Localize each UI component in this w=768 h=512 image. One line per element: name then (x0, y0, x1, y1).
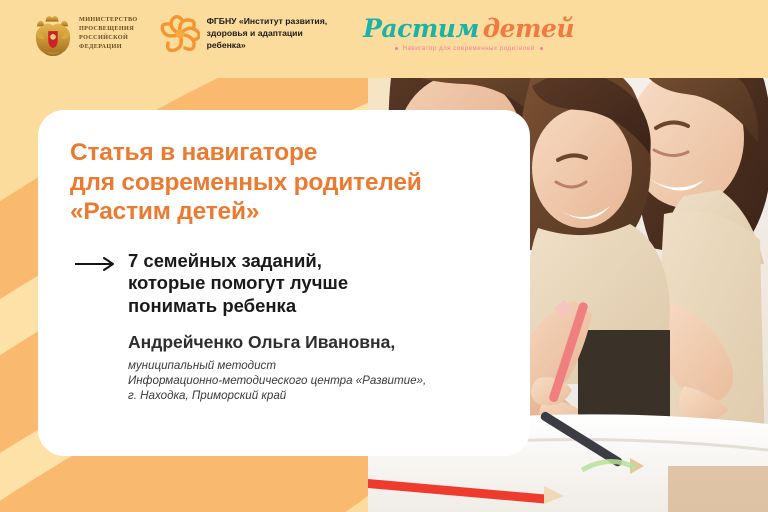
brand-word-detey: детей (483, 14, 574, 43)
brand-wordmark: Растимдетей (363, 16, 574, 42)
russian-coat-of-arms-icon (34, 12, 72, 56)
brand-tagline-row: Навигатор для современных родителей (363, 45, 574, 52)
article-subject-title: 7 семейных заданий, которые помогут лучш… (118, 250, 348, 318)
institute-label: ФГБНУ «Институт развития, здоровья и ада… (207, 16, 328, 51)
institute-logo-block: ФГБНУ «Институт развития, здоровья и ада… (160, 14, 328, 54)
page-title: Статья в навигаторе для современных роди… (70, 138, 500, 227)
author-name: Андрейченко Ольга Ивановна, (128, 332, 500, 353)
rastim-detey-brand: Растимдетей Навигатор для современных ро… (363, 16, 574, 52)
author-block: Андрейченко Ольга Ивановна, муниципальны… (70, 332, 500, 404)
subject-row: 7 семейных заданий, которые помогут лучш… (70, 250, 500, 318)
poster-root: Министерство просвещения Российской Феде… (0, 0, 768, 512)
brand-word-rastim: Растим (363, 14, 479, 43)
logo-bar: Министерство просвещения Российской Феде… (34, 12, 574, 56)
ministry-label: Министерство просвещения Российской Феде… (79, 16, 138, 51)
long-right-arrow-icon (74, 257, 118, 271)
bullet-dot-icon (540, 47, 543, 50)
ministry-logo-block: Министерство просвещения Российской Феде… (34, 12, 138, 56)
flower-logo-icon (160, 14, 200, 54)
author-affiliation: муниципальный методист Информационно-мет… (128, 358, 500, 404)
content-card: Статья в навигаторе для современных роди… (38, 110, 530, 456)
brand-tagline: Навигатор для современных родителей (403, 45, 535, 52)
bullet-dot-icon (395, 47, 398, 50)
